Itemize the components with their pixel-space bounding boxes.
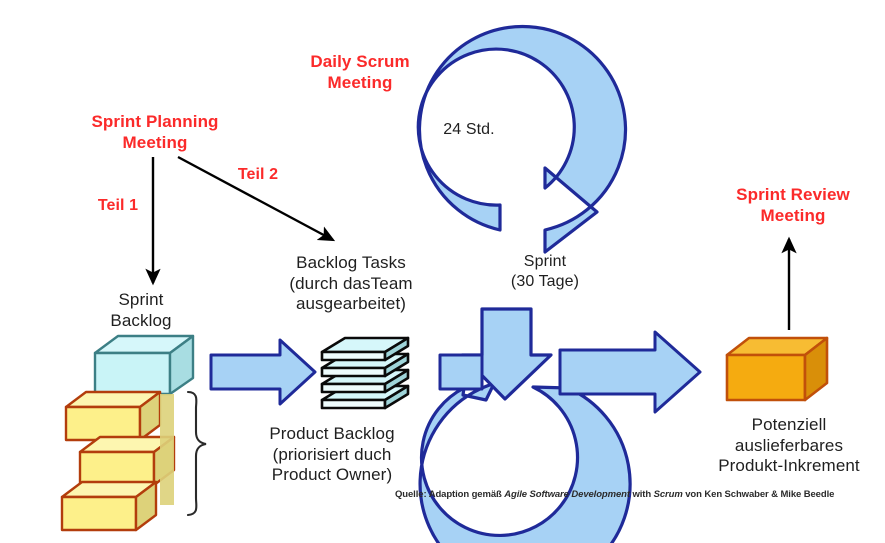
sprint-review-meeting-label: Sprint Review Meeting xyxy=(722,185,864,226)
blue-arrow-right-1 xyxy=(211,340,315,404)
product-increment-label: Potenziell auslieferbares Produkt-Inkrem… xyxy=(697,415,881,477)
sprint-backlog-cube xyxy=(95,336,193,394)
source-book-title-2: Scrum xyxy=(654,489,683,500)
circular-arrow-sprint xyxy=(420,309,630,543)
teil-2-label: Teil 2 xyxy=(226,165,290,185)
product-backlog-label: Product Backlog (priorisiert duch Produc… xyxy=(237,424,427,486)
source-attribution: Quelle: Adaption gemäß Agile Software De… xyxy=(395,489,834,500)
product-backlog-cubes xyxy=(62,392,174,530)
cycle-24h-label: 24 Std. xyxy=(419,120,519,140)
sprint-backlog-label: Sprint Backlog xyxy=(86,290,196,331)
paper-stack xyxy=(322,338,408,408)
teil-1-label: Teil 1 xyxy=(87,196,149,216)
source-prefix: Quelle: Adaption gemäß xyxy=(395,489,504,500)
daily-scrum-meeting-label: Daily Scrum Meeting xyxy=(285,52,435,93)
cycle-sprint-label: Sprint (30 Tage) xyxy=(486,252,604,291)
curly-brace xyxy=(188,392,206,515)
sprint-planning-meeting-label: Sprint Planning Meeting xyxy=(80,112,230,153)
source-book-title: Agile Software Development xyxy=(504,489,630,500)
source-suffix: von Ken Schwaber & Mike Beedle xyxy=(683,489,835,500)
backlog-tasks-label: Backlog Tasks (durch dasTeam ausgearbeit… xyxy=(253,253,449,315)
product-increment-cube xyxy=(727,338,827,400)
sprint-inflow-band xyxy=(440,355,482,389)
source-middle: with xyxy=(630,489,654,500)
scrum-diagram-canvas: Sprint Planning Meeting Teil 1 Teil 2 Da… xyxy=(0,0,885,543)
